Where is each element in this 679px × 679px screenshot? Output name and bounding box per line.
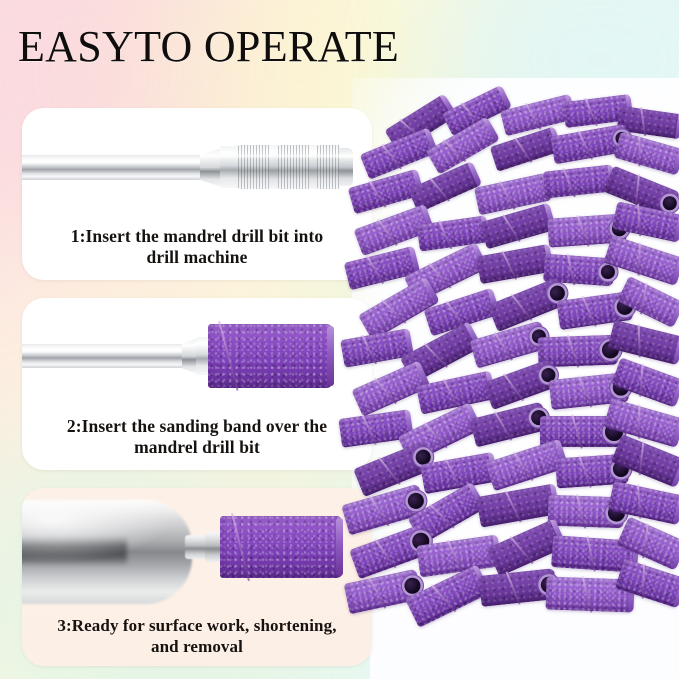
step-card-2: 2:Insert the sanding band over the mandr…	[22, 298, 372, 470]
step-1-caption: 1:Insert the mandrel drill bit into dril…	[32, 226, 362, 269]
step-2-caption-line2: mandrel drill bit	[32, 437, 362, 458]
product-infographic: EASYTO OPERATE 1:Insert the mandrel dril…	[0, 0, 679, 679]
step-3-caption: 3:Ready for surface work, shortening, an…	[32, 616, 362, 657]
step-2-caption: 2:Insert the sanding band over the mandr…	[32, 416, 362, 459]
sanding-band	[208, 324, 332, 388]
page-title: EASYTO OPERATE	[18, 24, 399, 71]
step-1-caption-line2: drill machine	[32, 247, 362, 268]
step-2-illustration	[22, 298, 372, 410]
step-3-caption-line1: 3:Ready for surface work, shortening,	[32, 616, 362, 637]
step-3-illustration	[22, 488, 372, 614]
sanding-bands-pile-photo	[352, 96, 679, 626]
step-card-3: 3:Ready for surface work, shortening, an…	[22, 488, 372, 666]
step-3-caption-line2: and removal	[32, 637, 362, 658]
step-1-caption-line1: 1:Insert the mandrel drill bit into	[32, 226, 362, 247]
step-1-illustration	[22, 108, 372, 220]
sanding-band-mounted	[220, 516, 342, 578]
step-2-caption-line1: 2:Insert the sanding band over the	[32, 416, 362, 437]
step-card-1: 1:Insert the mandrel drill bit into dril…	[22, 108, 372, 280]
